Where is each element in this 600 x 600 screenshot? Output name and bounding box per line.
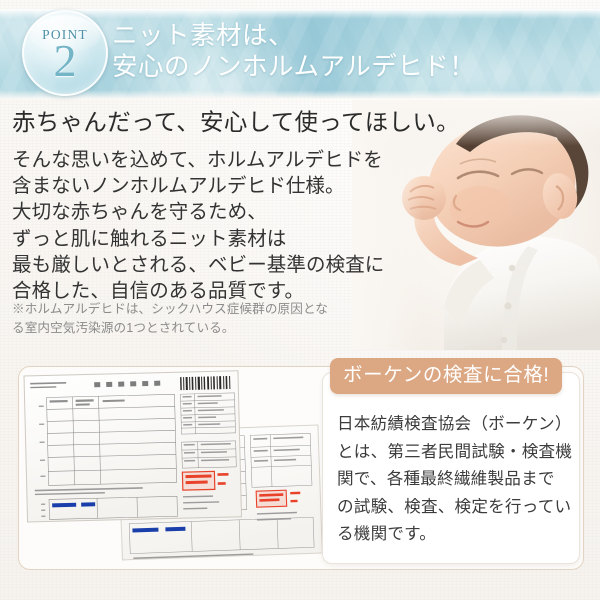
onesie-button: [509, 265, 515, 271]
badge-number: 2: [22, 38, 108, 84]
onesie-button: [501, 337, 507, 343]
boken-description: 日本紡績検査協会（ボーケン） とは、第三者民間試験・検査機 関で、各種最終繊維製…: [337, 410, 569, 548]
certificate-front: [24, 371, 242, 522]
certificate-images: [22, 370, 322, 564]
point-badge: POINT 2: [22, 10, 108, 96]
lede-text: 赤ちゃんだって、安心して使ってほしい。: [12, 108, 460, 138]
onesie-button: [504, 302, 511, 309]
footnote: ※ホルムアルデヒドは、シックハウス症候群の原因とな る室内空気汚染源の1つとされ…: [12, 300, 328, 338]
boken-banner-label: ボーケンの検査に合格!: [343, 364, 549, 386]
boken-banner: ボーケンの検査に合格!: [330, 358, 562, 394]
body-copy: そんな思いを込めて、ホルムアルデヒドを 含まないノンホルムアルデヒド仕様。 大切…: [12, 148, 384, 305]
certificate-documents: [22, 370, 322, 564]
page-root: POINT 2 ニット素材は、 安心のノンホルムアルデヒド！ 赤ちゃんだって、安…: [0, 0, 600, 600]
banner-heading: ニット素材は、 安心のノンホルムアルデヒド！: [112, 20, 475, 82]
